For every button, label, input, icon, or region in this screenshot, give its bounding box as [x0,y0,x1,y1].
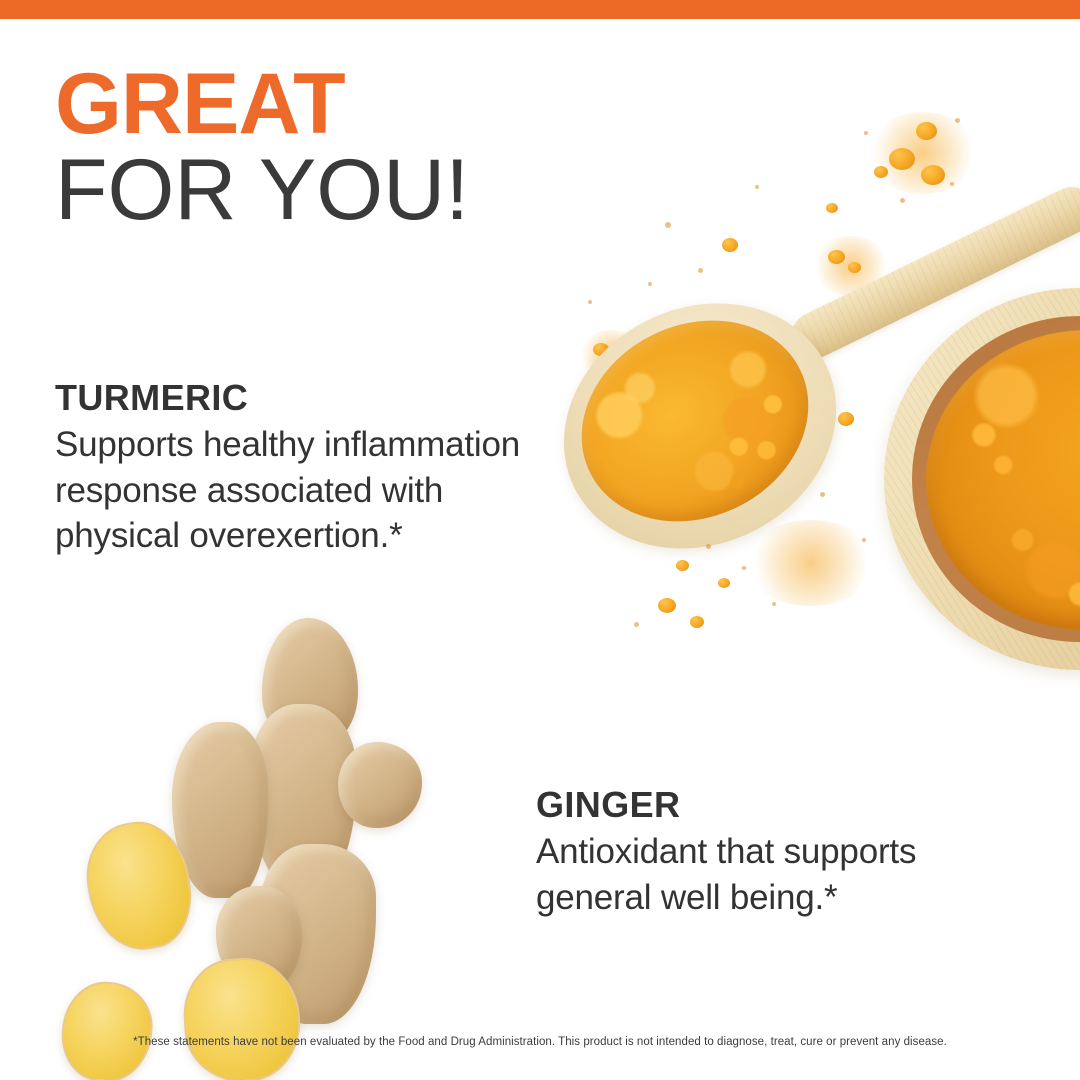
powder-dust [648,282,652,286]
powder-dust [955,118,960,123]
powder-crumb [690,616,704,628]
fda-disclaimer: *These statements have not been evaluate… [0,1036,1080,1048]
powder-crumb [838,412,854,426]
powder-crumb [848,262,861,273]
benefit-title-turmeric: TURMERIC [55,378,525,418]
powder-dust [706,544,711,549]
powder-crumb [921,165,945,185]
benefit-block-turmeric: TURMERIC Supports healthy inflammation r… [55,378,525,559]
powder-crumb [676,560,689,571]
ginger-lobe [338,742,422,828]
powder-dust [950,182,954,186]
powder-dust [665,222,671,228]
benefit-block-ginger: GINGER Antioxidant that supports general… [536,785,1026,920]
powder-dust [742,566,746,570]
powder-crumb [718,578,730,588]
headline-subline: FOR YOU! [55,148,469,232]
headline-accent-word: GREAT [55,62,469,146]
powder-crumb [889,148,915,170]
powder-crumb [828,250,845,264]
benefit-body-turmeric: Supports healthy inflammation response a… [55,422,525,559]
promo-banner: GREAT FOR YOU! TURMERIC Supports healthy… [0,0,1080,1080]
powder-dust [820,492,825,497]
powder-crumb [826,203,838,213]
powder-crumb [874,166,888,178]
powder-dust [588,300,592,304]
benefit-body-ginger: Antioxidant that supports general well b… [536,829,1026,920]
powder-crumb [722,238,738,252]
powder-dust [772,602,776,606]
powder-dust [900,198,905,203]
powder-dust [862,538,866,542]
powder-scatter-cloud [746,520,876,606]
powder-dust [755,185,759,189]
powder-dust [634,622,639,627]
powder-crumb [658,598,676,613]
powder-dust [864,131,868,135]
benefit-title-ginger: GINGER [536,785,1026,825]
page-title: GREAT FOR YOU! [55,62,469,233]
powder-dust [698,268,703,273]
powder-crumb [916,122,937,140]
ginger-slice [57,978,157,1080]
